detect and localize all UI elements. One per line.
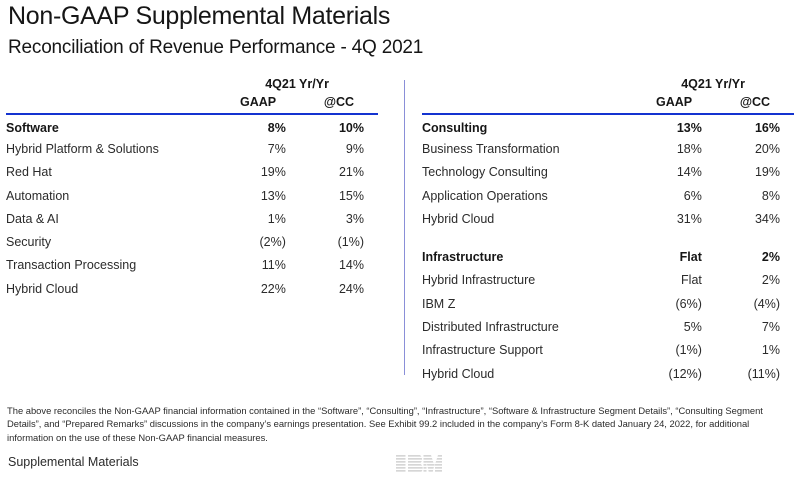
header-col-blank [6,94,216,113]
row-value-gaap: (6%) [632,292,716,315]
row-label: Consulting [422,114,632,137]
row-label: Hybrid Platform & Solutions [6,137,216,160]
row-value-gaap: 19% [216,161,300,184]
table-row: IBM Z(6%)(4%) [422,292,794,315]
row-label: Hybrid Cloud [6,277,216,300]
header-col-gaap: GAAP [632,94,716,113]
consulting-infrastructure-table: 4Q21 Yr/YrGAAP@CCConsulting13%16%Busines… [422,76,794,385]
row-label: Hybrid Cloud [422,362,632,385]
table-row: Data & AI1%3% [6,207,378,230]
row-value-cc: 20% [716,137,794,160]
row-value-gaap: 1% [216,207,300,230]
row-label: Software [6,114,216,137]
row-value-gaap: (2%) [216,230,300,253]
table-row: Distributed Infrastructure5%7% [422,315,794,338]
row-label: Data & AI [6,207,216,230]
row-value-gaap: Flat [632,245,716,268]
footnote: The above reconciles the Non-GAAP financ… [7,404,789,444]
software-reconciliation-panel: 4Q21 Yr/YrGAAP@CCSoftware8%10%Hybrid Pla… [6,76,378,300]
table-row: Business Transformation18%20% [422,137,794,160]
row-value-gaap: 14% [632,161,716,184]
row-value-cc: 15% [300,184,378,207]
row-value-cc: 9% [300,137,378,160]
row-value-gaap: 18% [632,137,716,160]
row-label: Automation [6,184,216,207]
row-value-cc: 2% [716,245,794,268]
table-row: Application Operations6%8% [422,184,794,207]
row-value-cc: 16% [716,114,794,137]
header-span-blank [422,76,632,94]
ibm-logo [396,455,442,473]
table-row: Security(2%)(1%) [6,230,378,253]
row-label: Application Operations [422,184,632,207]
row-value-gaap: 8% [216,114,300,137]
table-row: Hybrid Cloud22%24% [6,277,378,300]
row-value-cc: 14% [300,254,378,277]
row-value-gaap: 22% [216,277,300,300]
row-value-cc: (1%) [300,230,378,253]
table-row: Technology Consulting14%19% [422,161,794,184]
table-row: Automation13%15% [6,184,378,207]
row-value-gaap: 7% [216,137,300,160]
row-value-cc: 10% [300,114,378,137]
panel-divider [404,80,405,375]
row-value-cc: 24% [300,277,378,300]
table-header-columns-row: GAAP@CC [422,94,794,113]
row-value-cc: 21% [300,161,378,184]
consulting-infrastructure-reconciliation-panel: 4Q21 Yr/YrGAAP@CCConsulting13%16%Busines… [422,76,794,385]
row-label: IBM Z [422,292,632,315]
row-value-cc: 7% [716,315,794,338]
row-value-cc: 34% [716,207,794,230]
row-label: Infrastructure Support [422,339,632,362]
row-value-gaap: 11% [216,254,300,277]
header-period-label: 4Q21 Yr/Yr [632,76,794,94]
table-row: Red Hat19%21% [6,161,378,184]
row-value-gaap: 6% [632,184,716,207]
row-value-cc: (11%) [716,362,794,385]
table-header-span-row: 4Q21 Yr/Yr [6,76,378,94]
row-value-cc: 2% [716,269,794,292]
header-col-cc: @CC [300,94,378,113]
table-row: Hybrid Cloud31%34% [422,207,794,230]
row-label: Red Hat [6,161,216,184]
row-value-gaap: 13% [632,114,716,137]
table-row: Hybrid InfrastructureFlat2% [422,269,794,292]
row-value-gaap: 31% [632,207,716,230]
header-col-cc: @CC [716,94,794,113]
page-title: Non-GAAP Supplemental Materials [8,2,390,31]
row-label: Distributed Infrastructure [422,315,632,338]
row-label: Hybrid Cloud [422,207,632,230]
table-row: InfrastructureFlat2% [422,245,794,268]
software-table: 4Q21 Yr/YrGAAP@CCSoftware8%10%Hybrid Pla… [6,76,378,300]
table-section-spacer [422,230,794,245]
table-row: Software8%10% [6,114,378,137]
row-label: Infrastructure [422,245,632,268]
row-label: Business Transformation [422,137,632,160]
row-value-cc: 8% [716,184,794,207]
table-row: Consulting13%16% [422,114,794,137]
row-value-gaap: (12%) [632,362,716,385]
header-span-blank [6,76,216,94]
row-value-gaap: 13% [216,184,300,207]
row-value-cc: 3% [300,207,378,230]
row-value-cc: (4%) [716,292,794,315]
slide-footer-label: Supplemental Materials [8,455,139,469]
table-row: Hybrid Platform & Solutions7%9% [6,137,378,160]
row-value-gaap: 5% [632,315,716,338]
page-subtitle: Reconciliation of Revenue Performance - … [8,37,423,59]
header-col-gaap: GAAP [216,94,300,113]
header-col-blank [422,94,632,113]
row-value-cc: 19% [716,161,794,184]
row-label: Security [6,230,216,253]
row-value-cc: 1% [716,339,794,362]
row-label: Technology Consulting [422,161,632,184]
table-row: Hybrid Cloud(12%)(11%) [422,362,794,385]
table-row: Infrastructure Support(1%)1% [422,339,794,362]
table-header-columns-row: GAAP@CC [6,94,378,113]
row-label: Hybrid Infrastructure [422,269,632,292]
row-value-gaap: (1%) [632,339,716,362]
row-label: Transaction Processing [6,254,216,277]
table-header-span-row: 4Q21 Yr/Yr [422,76,794,94]
header-period-label: 4Q21 Yr/Yr [216,76,378,94]
table-row: Transaction Processing11%14% [6,254,378,277]
row-value-gaap: Flat [632,269,716,292]
